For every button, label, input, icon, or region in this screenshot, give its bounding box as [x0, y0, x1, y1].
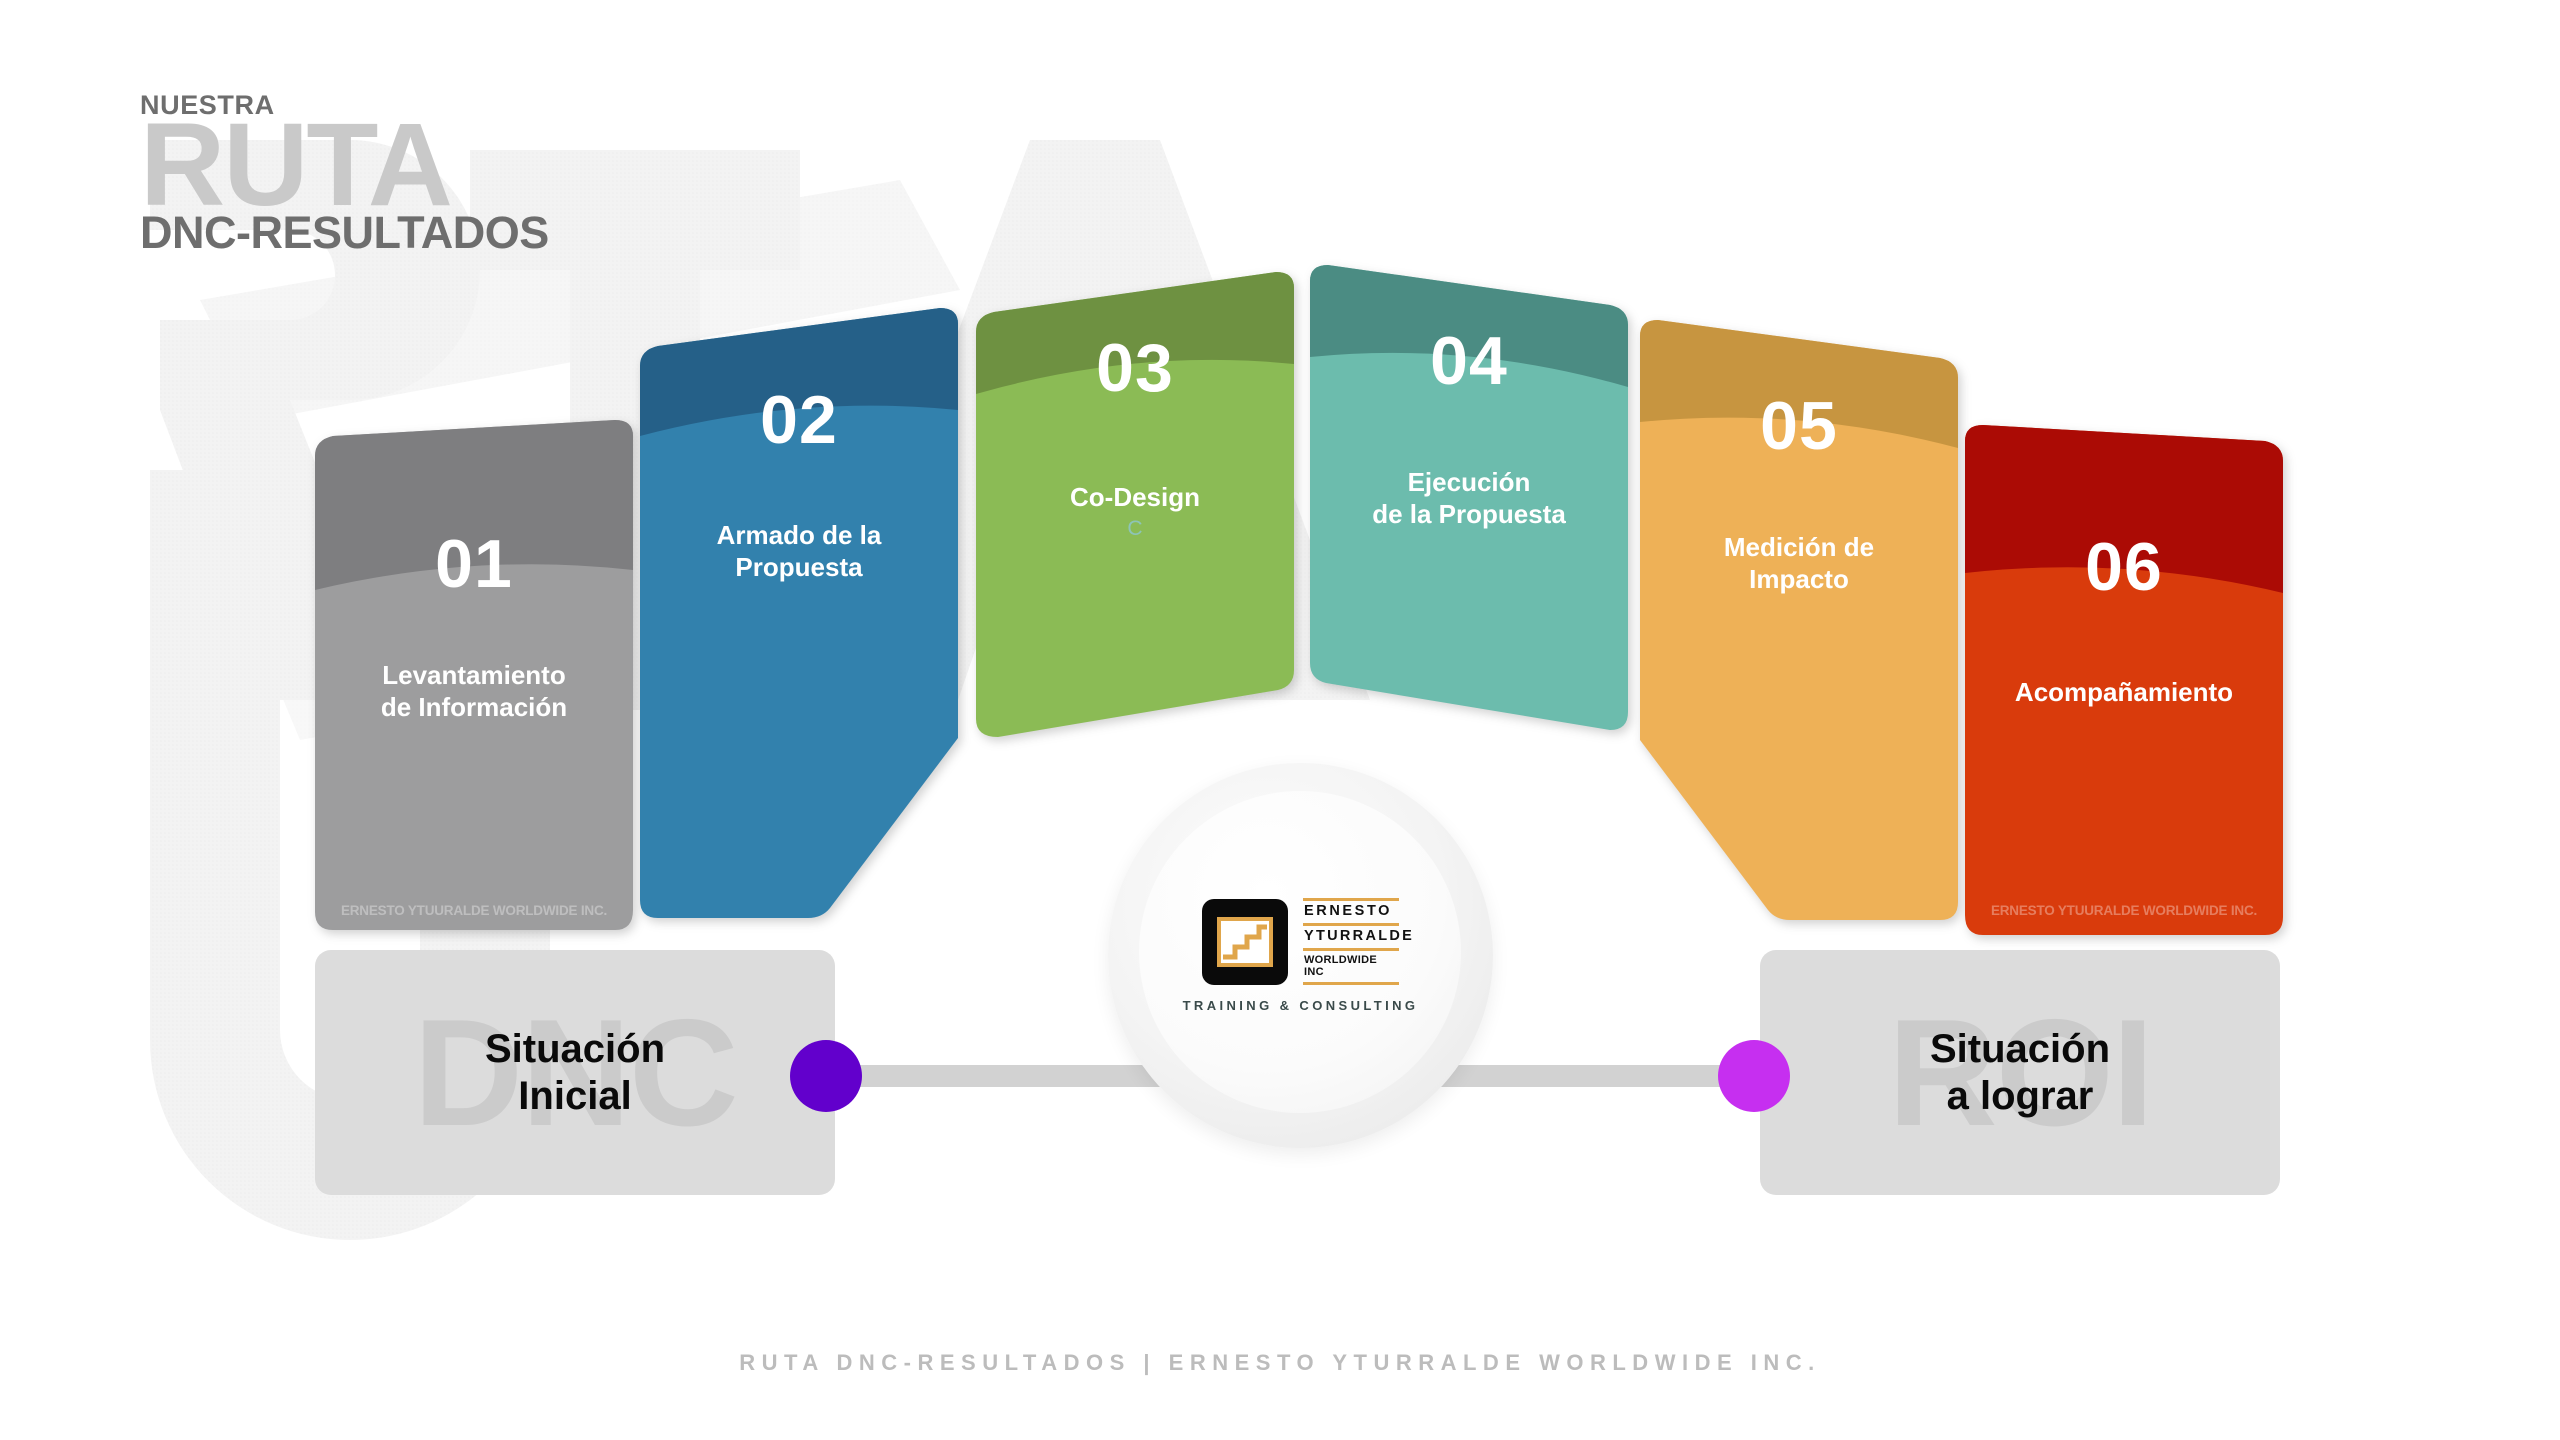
logo-brand-line2: YTURRALDE	[1303, 926, 1399, 948]
endpoint-label-goal: Situación a lograr	[1930, 1026, 2110, 1119]
card-title: Ejecución de la Propuesta	[1362, 467, 1576, 530]
step-card-02[interactable]: 02 Armado de la Propuesta	[640, 308, 958, 918]
card-title: Acompañamiento	[2005, 677, 2243, 709]
card-title: Medición de Impacto	[1714, 532, 1884, 595]
page-subtitle: DNC-RESULTADOS	[140, 210, 549, 255]
step-card-06[interactable]: 06 Acompañamiento ERNESTO YTUURALDE WORL…	[1965, 425, 2283, 940]
logo-divider	[1303, 982, 1399, 985]
card-number: 03	[1096, 334, 1174, 402]
step-card-04[interactable]: 04 Ejecución de la Propuesta	[1310, 265, 1628, 743]
page-title: RUTA	[140, 115, 549, 216]
card-title: Co-Design	[1060, 482, 1210, 514]
card-number: 01	[435, 530, 513, 598]
step-card-03[interactable]: 03 Co-Design C	[976, 272, 1294, 737]
center-logo: ERNESTO YTURRALDE WORLDWIDE INC TRAINING…	[1108, 763, 1493, 1148]
card-number: 06	[2085, 533, 2163, 601]
card-title: Levantamiento de Información	[371, 660, 577, 723]
step-card-01[interactable]: 01 Levantamiento de Información ERNESTO …	[315, 420, 633, 940]
card-title: Armado de la Propuesta	[707, 520, 892, 583]
logo-brand-line3: WORLDWIDE INC	[1303, 951, 1399, 981]
card-number: 04	[1430, 327, 1508, 395]
logo-badge	[1202, 899, 1288, 985]
logo-wordmark: ERNESTO YTURRALDE WORLDWIDE INC	[1303, 898, 1399, 984]
node-dot-end[interactable]	[1718, 1040, 1790, 1112]
node-dot-start[interactable]	[790, 1040, 862, 1112]
page-header: NUESTRA RUTA DNC-RESULTADOS	[140, 92, 549, 255]
card-number: 02	[760, 386, 838, 454]
card-footer-brand: ERNESTO YTUURALDE WORLDWIDE INC.	[315, 903, 633, 918]
card-ghost-char: C	[1127, 518, 1142, 539]
step-card-05[interactable]: 05 Medición de Impacto	[1640, 320, 1958, 920]
endpoint-box-goal: ROI Situación a lograr	[1760, 950, 2280, 1195]
growth-chart-icon	[1217, 917, 1273, 967]
endpoint-box-initial: DNC Situación Inicial	[315, 950, 835, 1195]
logo-mark: ERNESTO YTURRALDE WORLDWIDE INC TRAINING…	[1108, 763, 1493, 1148]
card-number: 05	[1760, 392, 1838, 460]
logo-brand-line1: ERNESTO	[1303, 901, 1399, 923]
page-footer: RUTA DNC-RESULTADOS | ERNESTO YTURRALDE …	[0, 1350, 2560, 1376]
card-footer-brand: ERNESTO YTUURALDE WORLDWIDE INC.	[1965, 903, 2283, 918]
logo-tagline: TRAINING & CONSULTING	[1183, 998, 1419, 1013]
endpoint-label-initial: Situación Inicial	[485, 1026, 665, 1119]
